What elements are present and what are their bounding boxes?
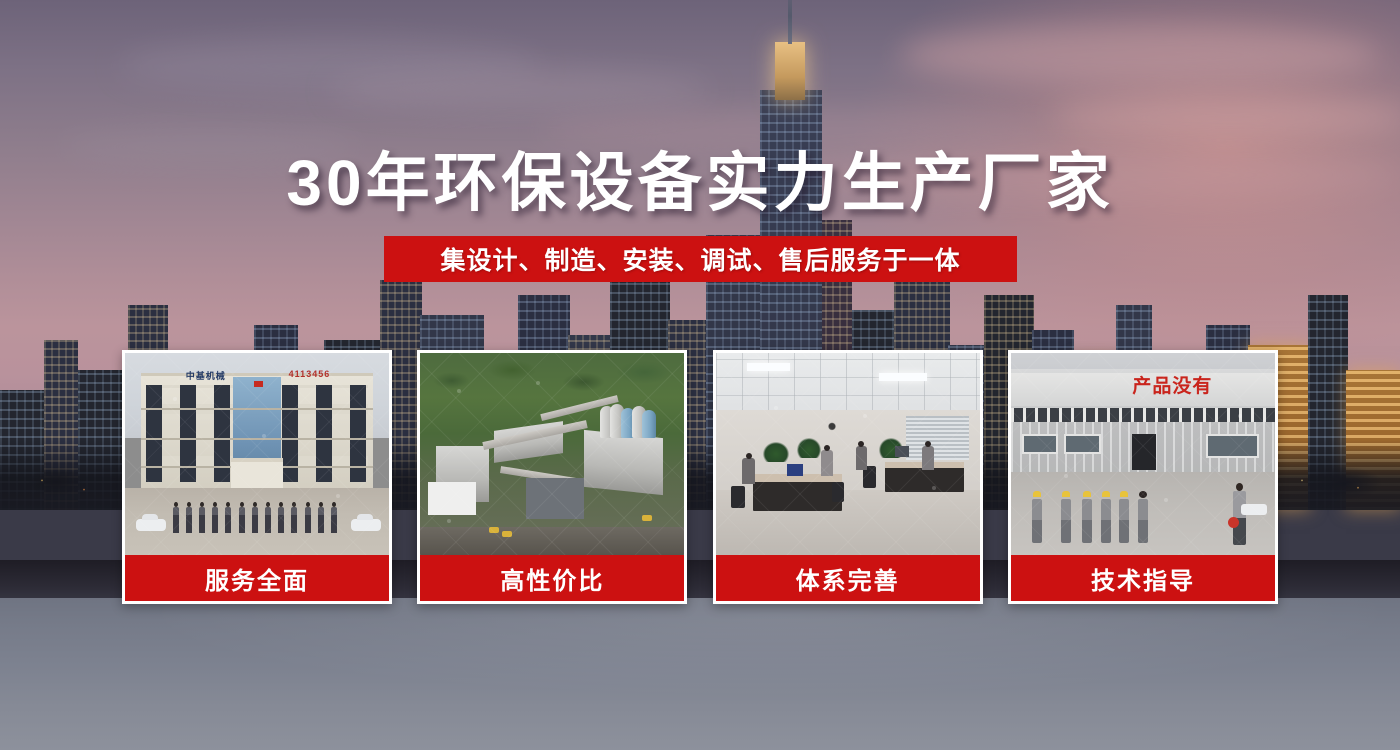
feature-card[interactable]: 产品没有 (1008, 350, 1278, 604)
tower-spire (788, 0, 792, 44)
card-caption: 技术指导 (1011, 555, 1275, 601)
card-caption: 体系完善 (716, 555, 980, 601)
watermark-overlay (420, 353, 684, 555)
water-reflection (0, 598, 1400, 750)
feature-card[interactable]: 中基机械 4113456 (122, 350, 392, 604)
subtitle-text: 集设计、制造、安装、调试、售后服务于一体 (440, 241, 960, 277)
feature-card[interactable]: 体系完善 (713, 350, 983, 604)
feature-card[interactable]: 高性价比 (417, 350, 687, 604)
office-interior-photo (716, 353, 980, 555)
company-headquarters-photo: 中基机械 4113456 (125, 353, 389, 555)
card-caption: 服务全面 (125, 555, 389, 601)
subtitle-banner: 集设计、制造、安装、调试、售后服务于一体 (384, 236, 1017, 282)
watermark-overlay (125, 353, 389, 555)
production-plant-aerial-photo (420, 353, 684, 555)
page-title: 30年环保设备实力生产厂家 (0, 132, 1400, 224)
watermark-overlay (716, 353, 980, 555)
tower-crown-lights (775, 42, 805, 100)
workshop-training-photo: 产品没有 (1011, 353, 1275, 555)
banner-stage: 30年环保设备实力生产厂家 集设计、制造、安装、调试、售后服务于一体 中基机械 (0, 0, 1400, 750)
feature-card-row: 中基机械 4113456 (122, 350, 1278, 604)
watermark-overlay (1011, 353, 1275, 555)
card-caption: 高性价比 (420, 555, 684, 601)
